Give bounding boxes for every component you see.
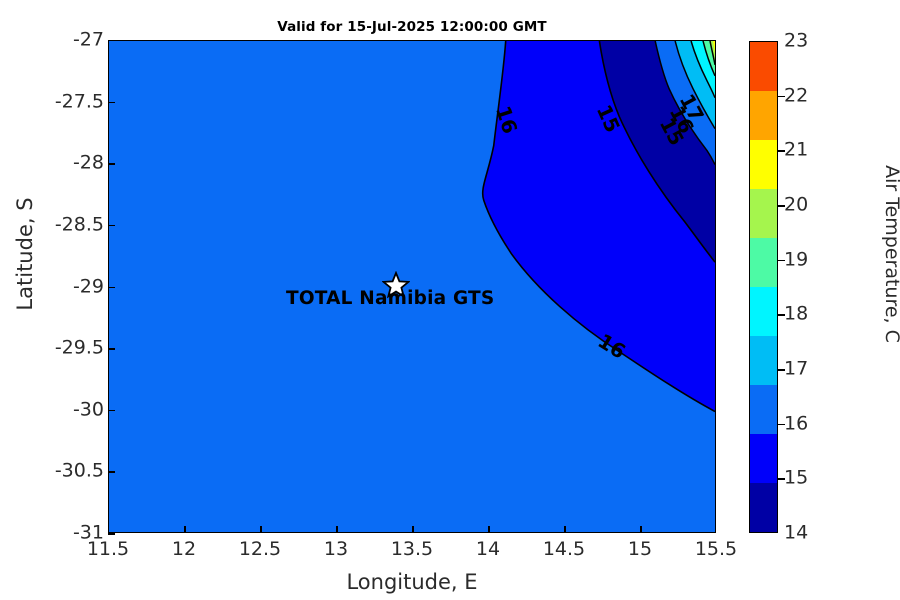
x-tick-mark bbox=[640, 526, 642, 533]
y-tick-label: -27.5 bbox=[32, 92, 104, 111]
y-tick-mark bbox=[108, 102, 115, 104]
y-axis-ticks: -27-27.5-28-28.5-29-29.5-30-30.5-31 bbox=[26, 40, 104, 533]
colorbar-tick-label: 16 bbox=[784, 414, 808, 433]
colorbar-tick-label: 21 bbox=[784, 141, 808, 160]
x-tick-mark bbox=[184, 526, 186, 533]
colorbar-title: Air Temperature, C bbox=[881, 104, 900, 404]
y-tick-label: -27 bbox=[32, 31, 104, 50]
station-label: TOTAL Namibia GTS bbox=[286, 288, 494, 309]
colorbar-tick-mark bbox=[778, 369, 785, 371]
y-tick-mark bbox=[108, 410, 115, 412]
x-tick-mark bbox=[260, 526, 262, 533]
colorbar-band bbox=[750, 336, 777, 385]
x-tick-mark bbox=[488, 526, 490, 533]
x-tick-mark bbox=[564, 526, 566, 533]
colorbar-band bbox=[750, 140, 777, 189]
contour-field: 16 15 17 16 15 16 bbox=[109, 41, 715, 532]
y-tick-mark bbox=[108, 287, 115, 289]
colorbar-band bbox=[750, 42, 777, 91]
colorbar-tick-mark bbox=[778, 478, 785, 480]
colorbar bbox=[749, 41, 778, 533]
y-tick-label: -30 bbox=[32, 400, 104, 419]
colorbar-tick-mark bbox=[778, 424, 785, 426]
colorbar-tick-mark bbox=[778, 150, 785, 152]
x-tick-mark bbox=[336, 526, 338, 533]
y-axis-title: Latitude, S bbox=[13, 134, 37, 374]
colorbar-band bbox=[750, 385, 777, 434]
x-axis-title: Longitude, E bbox=[108, 570, 716, 594]
colorbar-band bbox=[750, 483, 777, 532]
y-tick-label: -28.5 bbox=[32, 215, 104, 234]
colorbar-band bbox=[750, 287, 777, 336]
y-tick-label: -28 bbox=[32, 154, 104, 173]
colorbar-tick-label: 20 bbox=[784, 196, 808, 215]
colorbar-tick-mark bbox=[778, 260, 785, 262]
y-tick-mark bbox=[108, 471, 115, 473]
colorbar-tick-label: 14 bbox=[784, 524, 808, 543]
x-tick-label: 15.5 bbox=[671, 540, 761, 559]
x-tick-mark bbox=[412, 526, 414, 533]
y-tick-mark bbox=[108, 163, 115, 165]
y-tick-mark bbox=[108, 225, 115, 227]
contour-plot-figure: Valid for 15-Jul-2025 12:00:00 GMT bbox=[0, 0, 900, 600]
colorbar-tick-mark bbox=[778, 96, 785, 98]
colorbar-band bbox=[750, 189, 777, 238]
y-tick-mark bbox=[108, 533, 115, 535]
colorbar-tick-label: 17 bbox=[784, 360, 808, 379]
y-tick-mark bbox=[108, 348, 115, 350]
colorbar-band bbox=[750, 238, 777, 287]
plot-area: 16 15 17 16 15 16 bbox=[108, 40, 716, 533]
colorbar-tick-label: 15 bbox=[784, 469, 808, 488]
page-title: Valid for 15-Jul-2025 12:00:00 GMT bbox=[108, 19, 716, 35]
y-tick-label: -30.5 bbox=[32, 462, 104, 481]
x-axis-ticks: 11.51212.51313.51414.51515.5 bbox=[108, 540, 716, 566]
colorbar-tick-mark bbox=[778, 314, 785, 316]
colorbar-tick-label: 22 bbox=[784, 86, 808, 105]
colorbar-ticks: 14151617181920212223 bbox=[784, 41, 830, 533]
colorbar-band bbox=[750, 91, 777, 140]
colorbar-tick-label: 18 bbox=[784, 305, 808, 324]
colorbar-band bbox=[750, 434, 777, 483]
colorbar-tick-label: 19 bbox=[784, 250, 808, 269]
y-tick-label: -29 bbox=[32, 277, 104, 296]
colorbar-tick-label: 23 bbox=[784, 32, 808, 51]
colorbar-tick-mark bbox=[778, 205, 785, 207]
y-tick-label: -29.5 bbox=[32, 339, 104, 358]
